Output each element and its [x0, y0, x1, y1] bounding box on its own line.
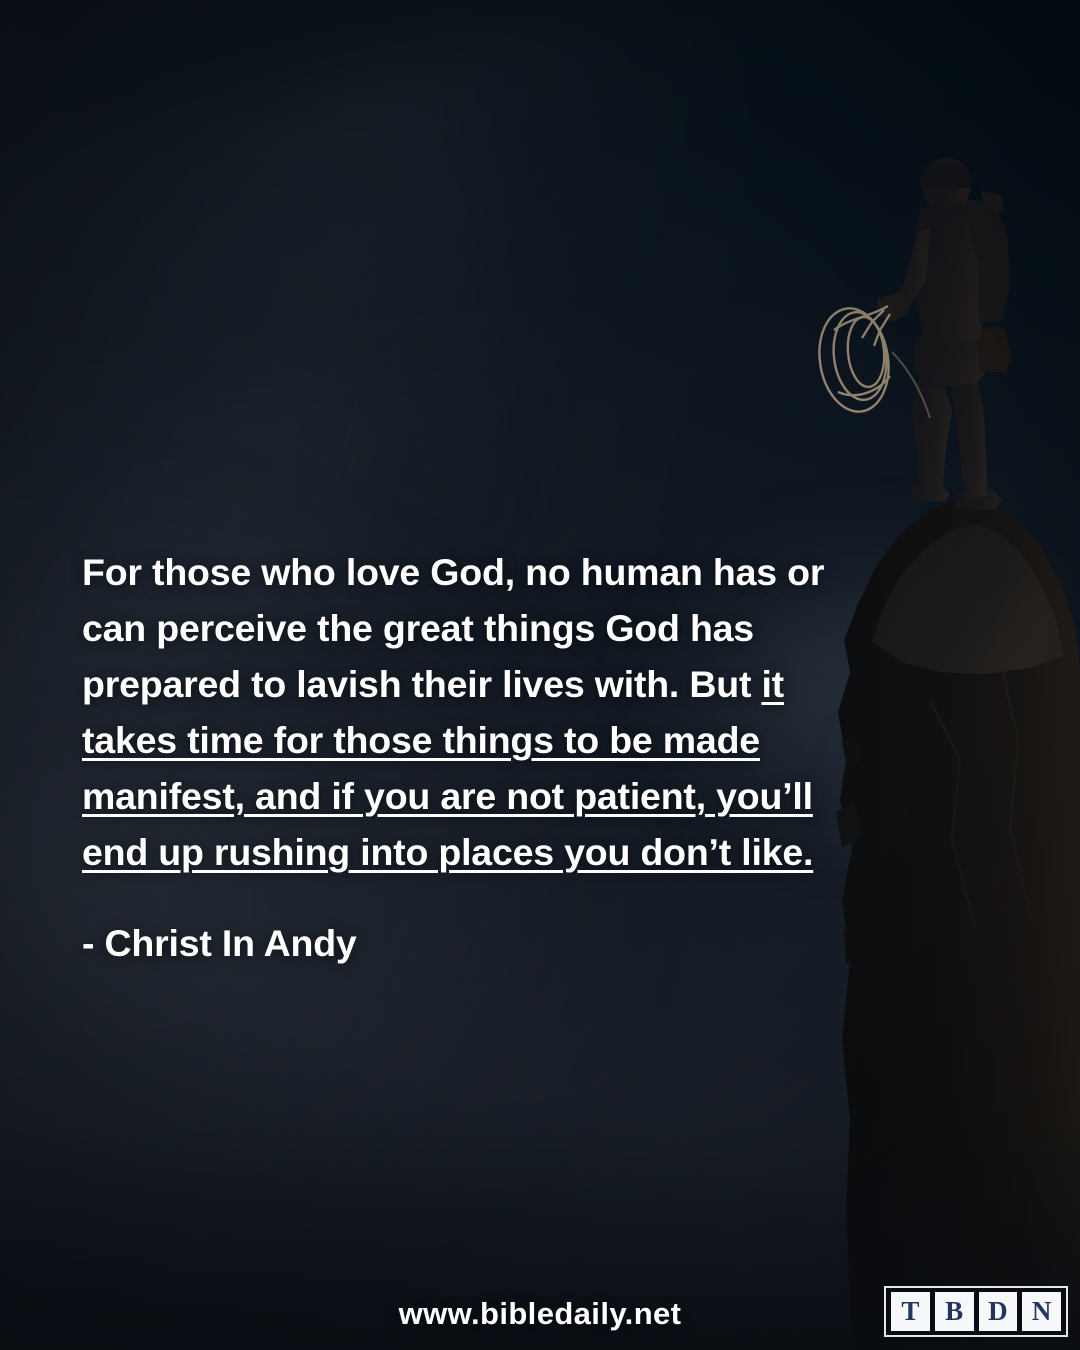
quote-attribution: - Christ In Andy: [82, 920, 872, 966]
quote-card: For those who love God, no human has or …: [0, 0, 1080, 1350]
tbdn-logo[interactable]: T B D N: [884, 1286, 1068, 1337]
logo-letter-d: D: [979, 1292, 1018, 1331]
quote-text: For those who love God, no human has or …: [82, 544, 872, 880]
quote-block: For those who love God, no human has or …: [82, 544, 872, 966]
logo-letter-t: T: [891, 1292, 930, 1331]
quote-plain-segment: For those who love God, no human has or …: [82, 551, 824, 705]
logo-letter-n: N: [1022, 1292, 1061, 1331]
logo-letter-b: B: [935, 1292, 974, 1331]
